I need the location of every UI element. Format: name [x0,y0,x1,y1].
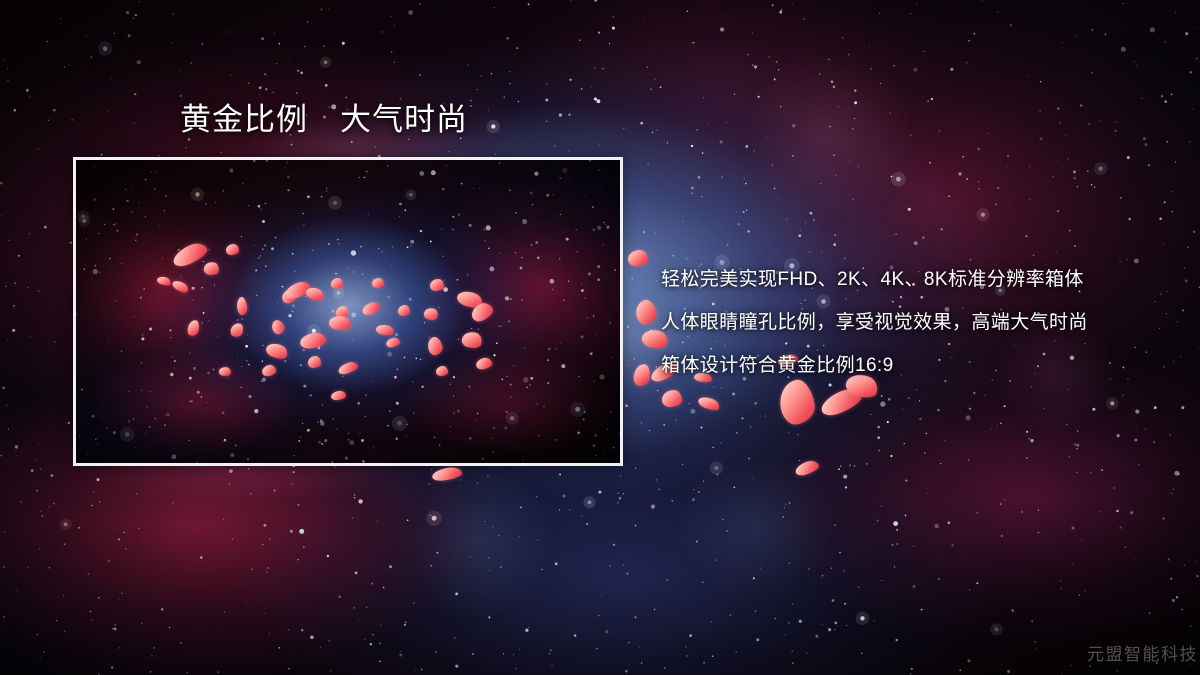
body-text-block: 轻松完美实现FHD、2K、4K、8K标准分辨率箱体 人体眼睛瞳孔比例，享受视觉效… [661,258,1181,387]
page-title: 黄金比例 大气时尚 [180,101,468,140]
body-line-3: 箱体设计符合黄金比例16:9 [661,344,1181,387]
petal [226,244,239,255]
body-line-2: 人体眼睛瞳孔比例，享受视觉效果，高端大气时尚 [661,301,1181,344]
body-line-1: 轻松完美实现FHD、2K、4K、8K标准分辨率箱体 [661,258,1181,301]
petal [331,278,343,289]
framed-image[interactable] [73,157,623,466]
petal [436,366,448,376]
petal [308,356,321,368]
presentation-slide: 黄金比例 大气时尚 轻松完美实现FHD、2K、4K、8K标准分辨率箱体 人体眼睛… [0,0,1200,675]
petal [398,305,410,316]
petal [430,279,444,291]
watermark: 元盟智能科技 [1087,640,1198,665]
petal [372,278,384,288]
petal [628,250,648,266]
petal [662,390,682,407]
